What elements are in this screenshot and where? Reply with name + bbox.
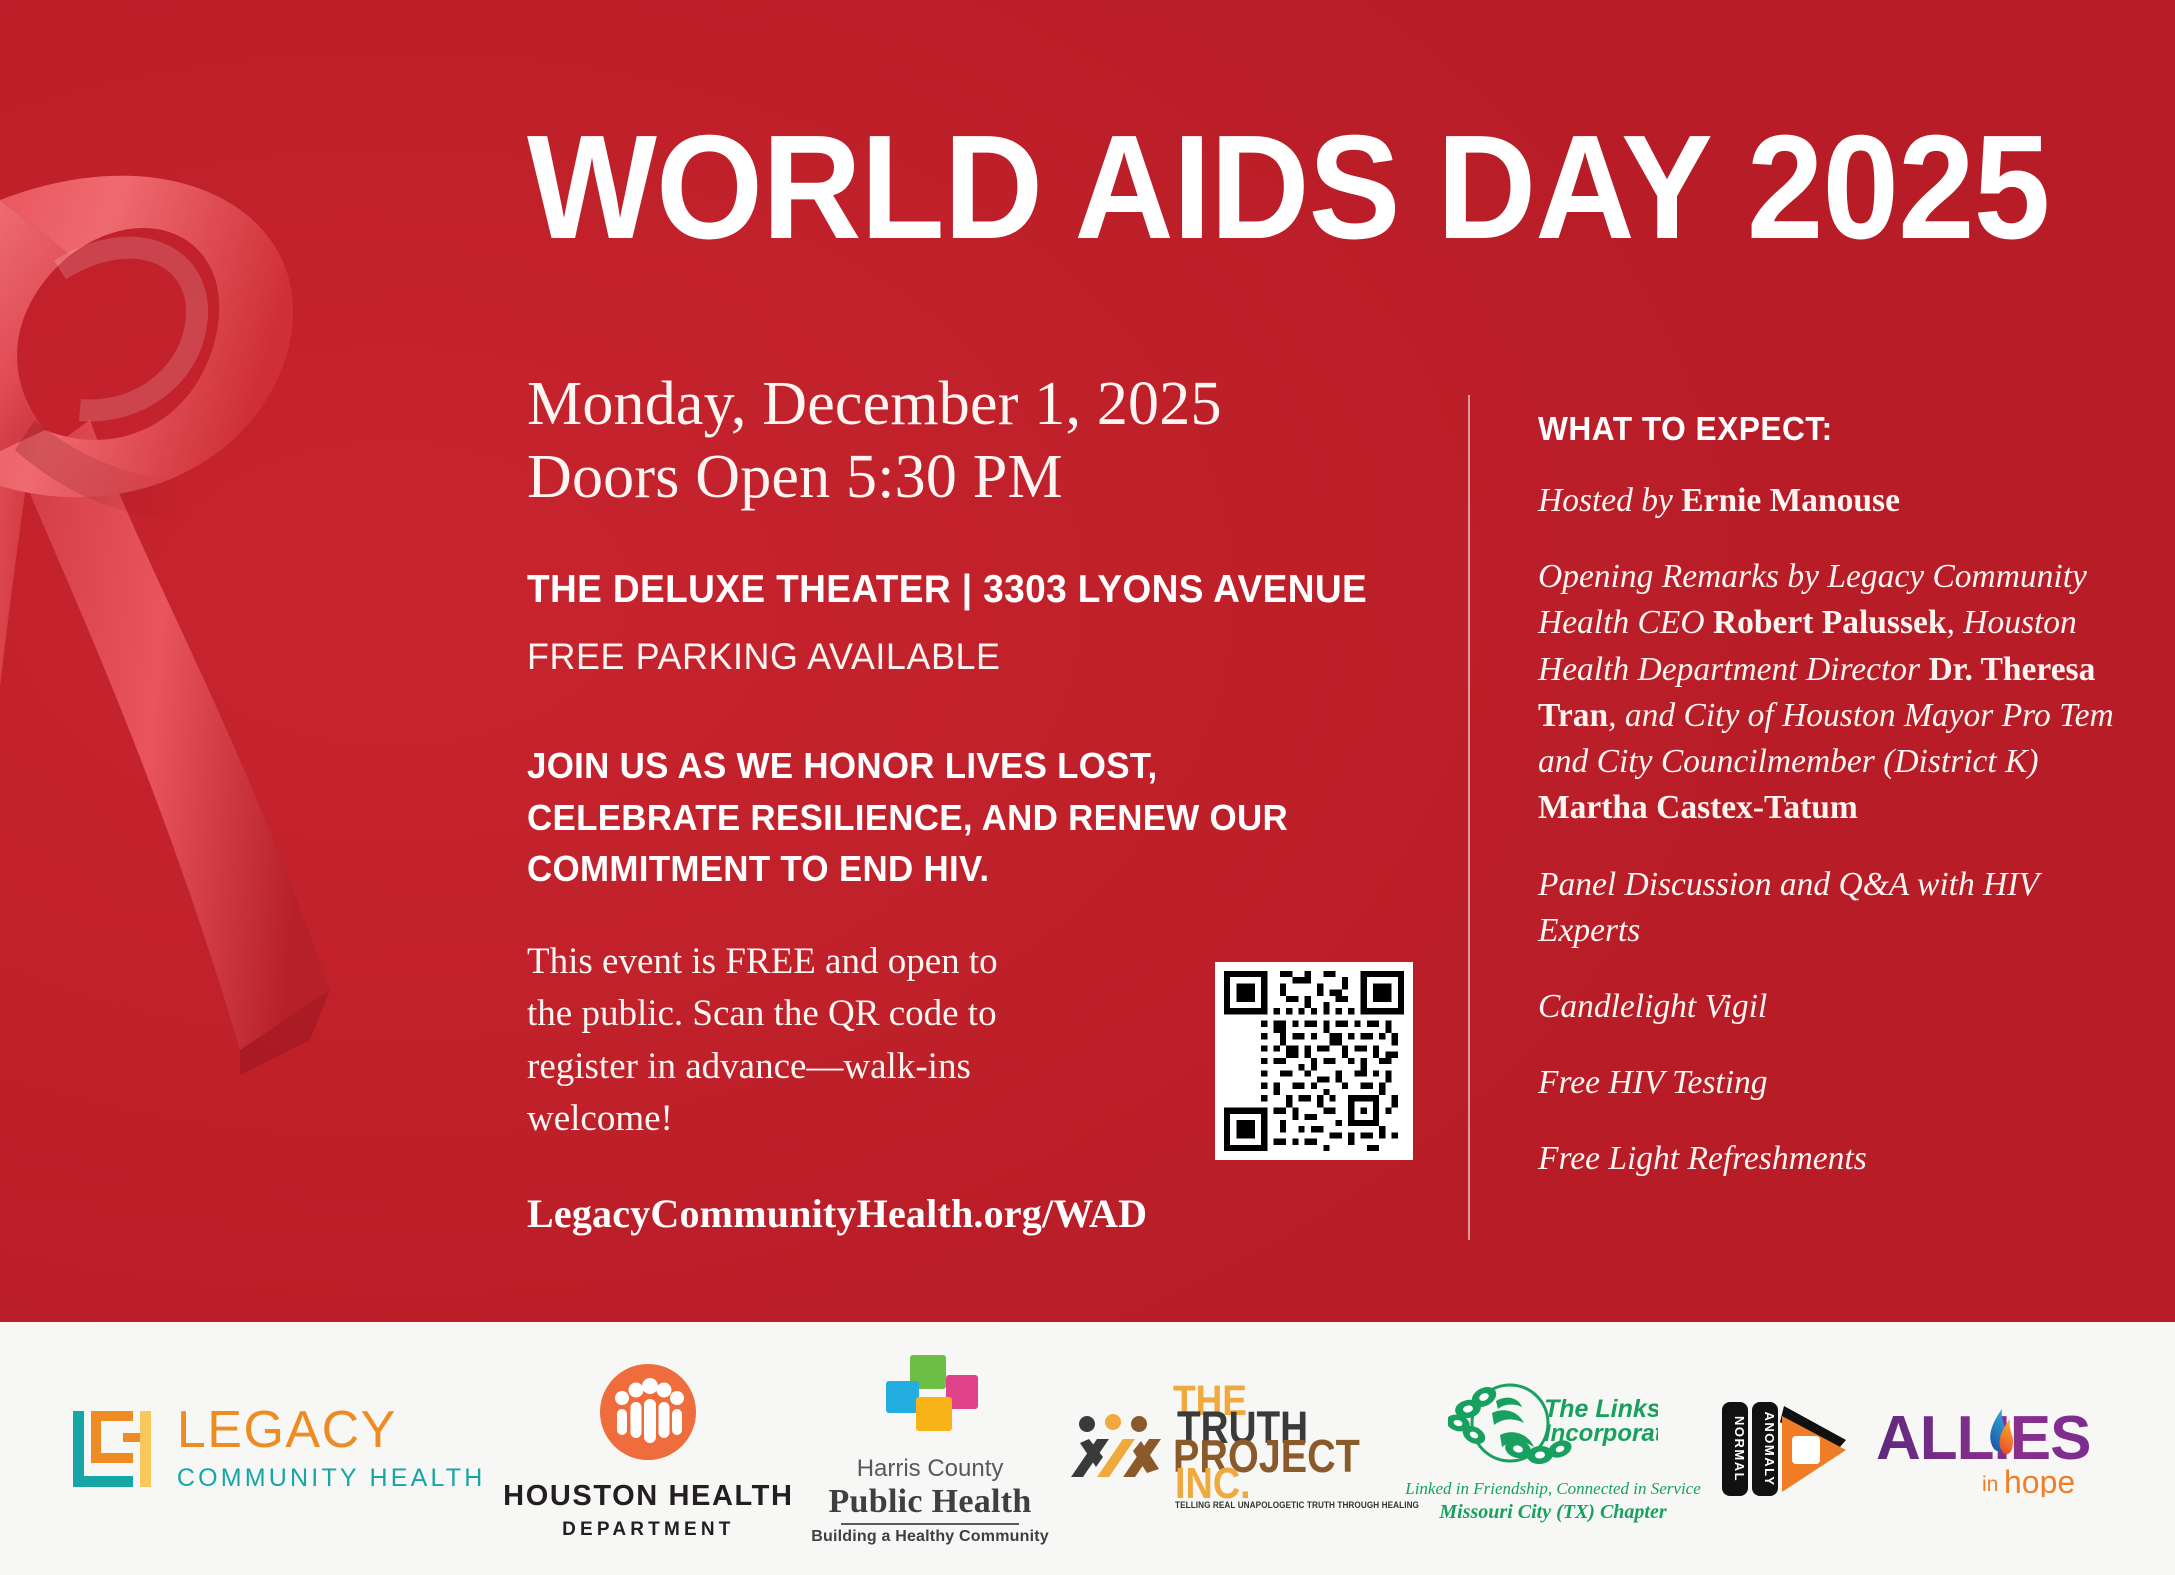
speaker-martha-castex-tatum: Martha Castex-Tatum <box>1538 789 1858 826</box>
links-chapter: Missouri City (TX) Chapter <box>1439 1501 1666 1524</box>
harris-county-line-3: Building a Healthy Community <box>811 1528 1049 1546</box>
host-line: Hosted by Ernie Manouse <box>1538 478 2133 524</box>
normal-anomaly-icon: NORMAL ANOMALY <box>1718 1396 1858 1502</box>
truth-tagline: TELLING REAL UNAPOLOGETIC TRUTH THROUGH … <box>1175 1502 1419 1510</box>
expect-item-panel: Panel Discussion and Q&A with HIV Expert… <box>1538 862 2133 954</box>
mission-statement: JOIN US AS WE HONOR LIVES LOST, CELEBRAT… <box>527 740 1303 893</box>
logo-houston-health-department: HOUSTON HEALTH DEPARTMENT <box>503 1356 793 1541</box>
page-title: WORLD AIDS DAY 2025 <box>527 120 1420 256</box>
mission-line-1: JOIN US AS WE HONOR LIVES LOST, <box>527 740 1303 791</box>
sponsor-logo-bar: LEGACY COMMUNITY HEALTH HOUSTON HEALTH D… <box>0 1322 2175 1575</box>
doors-open-time: Doors Open 5:30 PM <box>527 441 1487 514</box>
logo-legacy-community-health: LEGACY COMMUNITY HEALTH <box>69 1403 486 1495</box>
qr-code[interactable] <box>1215 962 1413 1160</box>
houston-health-name: HOUSTON HEALTH <box>503 1480 793 1513</box>
legacy-name: LEGACY <box>177 1404 486 1456</box>
houston-health-sub: DEPARTMENT <box>562 1519 735 1541</box>
expect-item-refreshments: Free Light Refreshments <box>1538 1136 2133 1182</box>
legacy-mark-icon <box>69 1403 161 1495</box>
allies-name: ALLIES <box>1876 1404 2090 1473</box>
truth-project-people-icon <box>1067 1411 1163 1487</box>
registration-note: This event is FREE and open to the publi… <box>527 936 1047 1146</box>
expect-item-vigil: Candlelight Vigil <box>1538 984 2133 1030</box>
expect-item-testing: Free HIV Testing <box>1538 1060 2133 1106</box>
harris-county-line-2: Public Health <box>828 1483 1031 1521</box>
truth-line-4: INC. <box>1175 1466 1251 1502</box>
event-date: Monday, December 1, 2025 <box>527 368 1487 441</box>
harris-county-line-1: Harris County <box>857 1455 1004 1483</box>
event-date-block: Monday, December 1, 2025 Doors Open 5:30… <box>527 368 1487 514</box>
allies-in-hope-wordmark-icon: ALLIES in hope <box>1876 1401 2106 1497</box>
logo-truth-project: THE TRUTH PROJECT INC. TELLING REAL UNAP… <box>1067 1384 1388 1514</box>
parking-note: FREE PARKING AVAILABLE <box>527 636 1458 678</box>
logo-normal-anomaly: NORMAL ANOMALY <box>1718 1396 1858 1502</box>
logo-allies-in-hope: ALLIES in hope <box>1876 1401 2106 1497</box>
links-name-1: The Links, <box>1544 1395 1658 1423</box>
links-name-2: Incorporated <box>1544 1420 1658 1447</box>
what-to-expect-heading: WHAT TO EXPECT: <box>1538 410 2109 448</box>
logo-the-links-incorporated: The Links, Incorporated Linked in Friend… <box>1405 1373 1701 1524</box>
harris-county-rule <box>841 1523 1019 1525</box>
venue-address: THE DELUXE THEATER | 3303 LYONS AVENUE <box>527 568 1439 612</box>
registration-url[interactable]: LegacyCommunityHealth.org/WAD <box>527 1190 1487 1237</box>
aids-ribbon-graphic <box>0 90 500 1270</box>
host-name: Ernie Manouse <box>1681 482 1900 519</box>
legacy-tagline: COMMUNITY HEALTH <box>177 1464 486 1493</box>
opening-remarks: Opening Remarks by Legacy Community Heal… <box>1538 554 2133 831</box>
normal-anomaly-word-1: NORMAL <box>1732 1415 1747 1481</box>
logo-harris-county-public-health: Harris County Public Health Building a H… <box>811 1351 1049 1546</box>
normal-anomaly-word-2: ANOMALY <box>1762 1411 1777 1486</box>
harris-county-squares-icon <box>870 1351 990 1447</box>
allies-sub-small: in <box>1982 1473 1998 1496</box>
mission-line-3: COMMITMENT TO END HIV. <box>527 843 1303 894</box>
poster-canvas: WORLD AIDS DAY 2025 Monday, December 1, … <box>0 0 2175 1575</box>
column-divider <box>1468 395 1470 1240</box>
remarks-part-3: , and City of Houston Mayor Pro Tem and … <box>1538 697 2114 780</box>
host-prefix: Hosted by <box>1538 482 1681 519</box>
what-to-expect-column: WHAT TO EXPECT: Hosted by Ernie Manouse … <box>1538 410 2133 1183</box>
links-globe-chain-icon: The Links, Incorporated <box>1448 1373 1658 1477</box>
links-tagline-1: Linked in Friendship, Connected in Servi… <box>1405 1479 1701 1499</box>
allies-sub: hope <box>2004 1464 2075 1497</box>
mission-line-2: CELEBRATE RESILIENCE, AND RENEW OUR <box>527 792 1303 843</box>
truth-project-wordmark: THE TRUTH PROJECT INC. TELLING REAL UNAP… <box>1173 1384 1388 1514</box>
speaker-robert-palussek: Robert Palussek <box>1713 604 1947 641</box>
legacy-wordmark: LEGACY COMMUNITY HEALTH <box>177 1404 486 1493</box>
houston-health-circle-icon <box>592 1356 704 1468</box>
